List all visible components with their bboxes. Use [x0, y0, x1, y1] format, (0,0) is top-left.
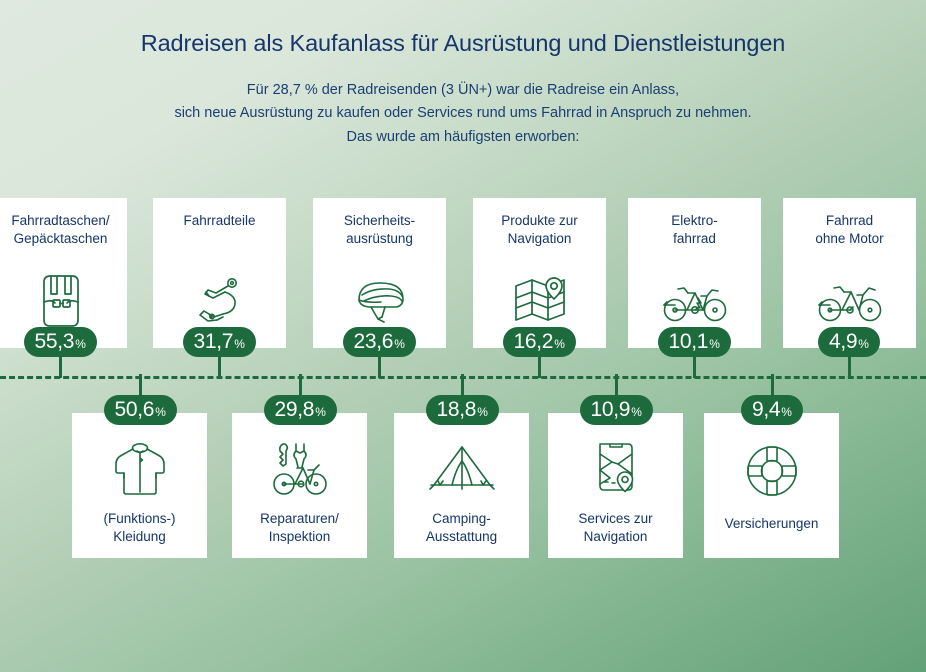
value-pill: 4,9% — [818, 327, 880, 357]
value-pill: 9,4% — [741, 395, 803, 425]
value-pill: 31,7% — [183, 327, 256, 357]
page-title: Radreisen als Kaufanlass für Ausrüstung … — [0, 30, 926, 57]
value-pill: 23,6% — [343, 327, 416, 357]
category-card: Versicherungen — [704, 413, 839, 558]
category-card: Camping- Ausstattung — [394, 413, 529, 558]
category-label: (Funktions-) Kleidung — [103, 510, 175, 546]
value-number: 55,3 — [35, 327, 75, 357]
value-pill: 10,9% — [580, 395, 653, 425]
value-number: 31,7 — [194, 327, 234, 357]
category-label: Elektro- fahrrad — [671, 212, 718, 254]
phone-navigation-icon — [548, 435, 683, 502]
percent-symbol: % — [554, 329, 565, 359]
life-ring-icon — [704, 435, 839, 507]
connector-stem — [378, 354, 381, 378]
connector-stem — [693, 354, 696, 378]
value-number: 29,8 — [275, 395, 315, 425]
value-number: 4,9 — [829, 327, 857, 357]
tent-icon — [394, 435, 529, 502]
category-card: (Funktions-) Kleidung — [72, 413, 207, 558]
category-label: Fahrradteile — [183, 212, 255, 254]
category-card: Fahrradtaschen/ Gepäcktaschen — [0, 198, 127, 348]
subtitle-line-3: Das wurde am häufigsten erworben: — [0, 126, 926, 149]
percent-symbol: % — [858, 329, 869, 359]
subtitle-line-2: sich neue Ausrüstung zu kaufen oder Serv… — [0, 102, 926, 125]
header: Radreisen als Kaufanlass für Ausrüstung … — [0, 0, 926, 149]
category-label: Versicherungen — [725, 515, 819, 533]
value-pill: 50,6% — [104, 395, 177, 425]
connector-stem — [218, 354, 221, 378]
percent-symbol: % — [477, 397, 488, 427]
percent-symbol: % — [234, 329, 245, 359]
category-card: Services zur Navigation — [548, 413, 683, 558]
value-number: 50,6 — [115, 395, 155, 425]
value-number: 10,9 — [591, 395, 631, 425]
category-label: Produkte zur Navigation — [501, 212, 578, 254]
percent-symbol: % — [75, 329, 86, 359]
category-card: Elektro- fahrrad — [628, 198, 761, 348]
category-label: Camping- Ausstattung — [426, 510, 497, 546]
percent-symbol: % — [394, 329, 405, 359]
connector-stem — [538, 354, 541, 378]
category-card: Produkte zur Navigation — [473, 198, 606, 348]
cycling-jersey-icon — [72, 435, 207, 502]
category-card: Sicherheits- ausrüstung — [313, 198, 446, 348]
category-label: Reparaturen/ Inspektion — [260, 510, 339, 546]
subtitle-line-1: Für 28,7 % der Radreisenden (3 ÜN+) war … — [0, 79, 926, 102]
page-subtitle: Für 28,7 % der Radreisenden (3 ÜN+) war … — [0, 79, 926, 149]
value-pill: 18,8% — [426, 395, 499, 425]
value-pill: 10,1% — [658, 327, 731, 357]
connector-stem — [59, 354, 62, 378]
percent-symbol: % — [631, 397, 642, 427]
percent-symbol: % — [315, 397, 326, 427]
percent-symbol: % — [781, 397, 792, 427]
category-label: Sicherheits- ausrüstung — [344, 212, 415, 254]
value-pill: 29,8% — [264, 395, 337, 425]
category-label: Fahrrad ohne Motor — [815, 212, 883, 254]
value-number: 10,1 — [669, 327, 709, 357]
value-number: 16,2 — [514, 327, 554, 357]
value-pill: 55,3% — [24, 327, 97, 357]
percent-symbol: % — [709, 329, 720, 359]
connector-stem — [848, 354, 851, 378]
category-card: Fahrradteile — [153, 198, 286, 348]
value-number: 23,6 — [354, 327, 394, 357]
value-pill: 16,2% — [503, 327, 576, 357]
category-label: Services zur Navigation — [578, 510, 652, 546]
value-number: 18,8 — [437, 395, 477, 425]
category-card: Fahrrad ohne Motor — [783, 198, 916, 348]
category-card: Reparaturen/ Inspektion — [232, 413, 367, 558]
category-label: Fahrradtaschen/ Gepäcktaschen — [11, 212, 109, 254]
percent-symbol: % — [155, 397, 166, 427]
value-number: 9,4 — [752, 395, 780, 425]
repair-tools-bike-icon — [232, 435, 367, 502]
